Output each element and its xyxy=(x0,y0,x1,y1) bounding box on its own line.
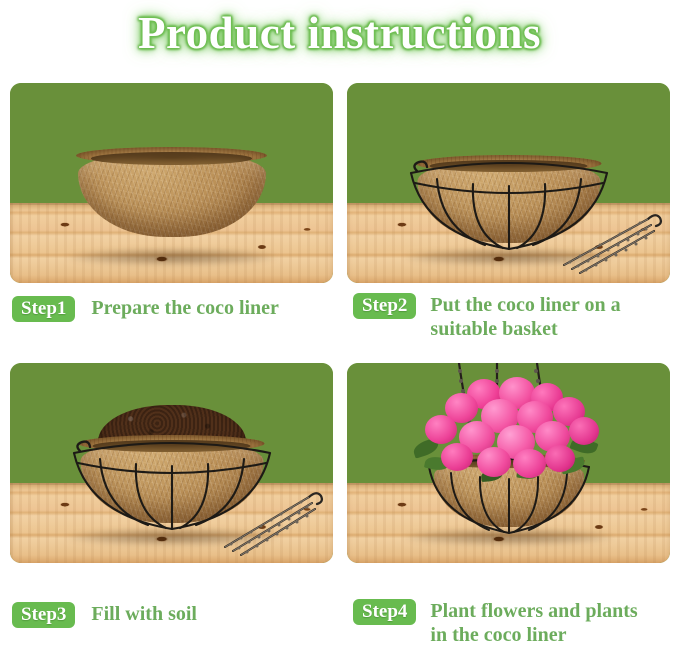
object-shadow xyxy=(404,529,614,545)
object-shadow xyxy=(67,529,277,545)
step-caption-3: Step3 Fill with soil xyxy=(12,602,197,628)
step-caption-4: Step4 Plant flowers and plants in the co… xyxy=(353,599,638,647)
step-card-1 xyxy=(10,83,333,283)
step-4-photo xyxy=(347,363,670,563)
step-badge-1: Step1 xyxy=(12,296,75,322)
pink-flower-cluster xyxy=(411,377,607,485)
step-1-photo xyxy=(10,83,333,283)
step-caption-1: Step1 Prepare the coco liner xyxy=(12,296,279,322)
step-text-4: Plant flowers and plants in the coco lin… xyxy=(430,599,637,647)
step-caption-2: Step2 Put the coco liner on a suitable b… xyxy=(353,293,621,341)
step-3-photo xyxy=(10,363,333,563)
step-badge-2: Step2 xyxy=(353,293,416,319)
object-shadow xyxy=(67,249,277,265)
step-text-2: Put the coco liner on a suitable basket xyxy=(430,293,620,341)
step-text-1: Prepare the coco liner xyxy=(91,296,279,321)
step-badge-4: Step4 xyxy=(353,599,416,625)
object-shadow xyxy=(404,249,614,265)
step-card-2 xyxy=(347,83,670,283)
step-card-4 xyxy=(347,363,670,563)
step-card-3 xyxy=(10,363,333,563)
step-badge-3: Step3 xyxy=(12,602,75,628)
step-2-photo xyxy=(347,83,670,283)
step-text-3: Fill with soil xyxy=(91,602,197,627)
